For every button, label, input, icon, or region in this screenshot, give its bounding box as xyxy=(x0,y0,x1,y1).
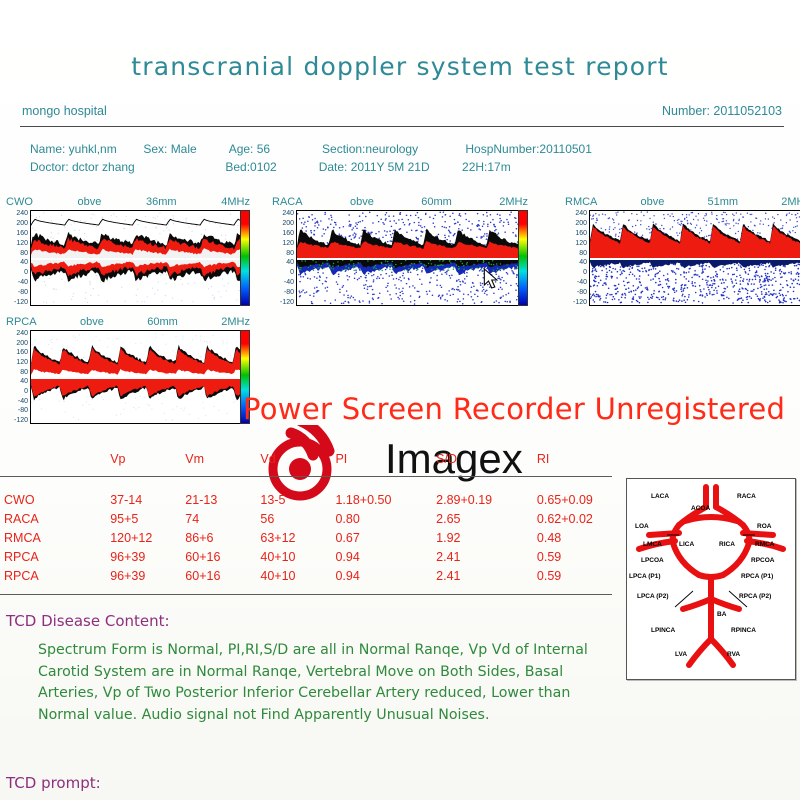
panel-axis: 240 200 160 120 80 40 0 -40 -80 -120 xyxy=(6,210,30,306)
axis-tick: 80 xyxy=(20,369,28,376)
cell-ri: 0.62+0.02 xyxy=(537,512,612,526)
column-header-ri: RI xyxy=(537,452,612,466)
cell-vd: 63+12 xyxy=(260,531,335,545)
label-loa: LOA xyxy=(635,523,649,530)
cell-ri: 0.59 xyxy=(537,550,612,564)
spectrum-panel-raca[interactable]: RACA obve 60mm 2MHz 240 200 160 120 80 4… xyxy=(272,196,528,306)
axis-tick: 0 xyxy=(24,388,28,395)
patient-name: Name: yuhkl,nm xyxy=(30,140,140,158)
label-rva: RVA xyxy=(727,651,740,658)
panel-axis: 240 200 160 120 80 40 0 -40 -80 -120 xyxy=(6,330,30,424)
panel-window: obve xyxy=(641,196,665,210)
axis-tick: 40 xyxy=(20,378,28,385)
cell-vm: 74 xyxy=(185,512,260,526)
hospital-row: mongo hospital Number: 2011052103 xyxy=(22,104,782,121)
axis-tick: -80 xyxy=(577,289,587,296)
hosp-number: HospNumber:20110501 xyxy=(465,140,592,158)
column-header-pi: PI xyxy=(335,452,436,466)
axis-tick: 120 xyxy=(282,240,294,247)
label-lpca-p2: LPCA (P2) xyxy=(637,593,669,600)
column-header-vm: Vm xyxy=(185,452,260,466)
spectrum-panel-cwo[interactable]: CWO obve 36mm 4MHz 240 200 160 120 80 40… xyxy=(6,196,250,306)
label-rpca-p1: RPCA (P1) xyxy=(741,573,773,580)
patient-age: Age: 56 xyxy=(229,140,319,158)
axis-tick: 240 xyxy=(575,210,587,217)
cell-pi: 0.94 xyxy=(335,569,436,583)
axis-tick: 200 xyxy=(282,220,294,227)
axis-tick: 120 xyxy=(575,240,587,247)
spectrum-panel-rmca[interactable]: RMCA obve 51mm 2MHz 240 200 160 120 80 4… xyxy=(565,196,800,306)
table-row: RACA 95+5 74 56 0.80 2.65 0.62+0.02 xyxy=(0,509,612,528)
disease-content-body: Spectrum Form is Normal, PI,RI,S/D are a… xyxy=(38,640,598,726)
panel-plot xyxy=(589,210,800,306)
baseline xyxy=(31,377,240,379)
table-row: CWO 37-14 21-13 13-5 1.18+0.50 2.89+0.19… xyxy=(0,490,612,509)
cell-vm: 86+6 xyxy=(185,531,260,545)
cell-ri: 0.59 xyxy=(537,569,612,583)
patient-info: Name: yuhkl,nm Sex: Male Age: 56 Section… xyxy=(30,140,592,176)
measurements-table: Vp Vm Vd PI S/D RI CWO 37-14 21-13 13-5 … xyxy=(0,452,612,585)
axis-tick: -80 xyxy=(18,289,28,296)
axis-tick: 80 xyxy=(20,250,28,257)
label-raca: RACA xyxy=(737,493,756,500)
axis-tick: -80 xyxy=(18,407,28,414)
panel-depth: 36mm xyxy=(146,196,177,210)
label-lmca: LMCA xyxy=(643,541,662,548)
disease-content-title: TCD Disease Content: xyxy=(6,612,170,630)
panel-plot xyxy=(30,330,241,424)
table-row: RMCA 120+12 86+6 63+12 0.67 1.92 0.48 xyxy=(0,528,612,547)
label-rmca: RMCA xyxy=(755,541,775,548)
axis-tick: 80 xyxy=(286,250,294,257)
axis-tick: 40 xyxy=(286,259,294,266)
label-lica: LICA xyxy=(679,541,694,548)
panel-plot xyxy=(296,210,519,306)
screen-recorder-watermark: Power Screen Recorder Unregistered xyxy=(243,392,785,426)
table-top-divider xyxy=(0,476,612,477)
table-row: RPCA 96+39 60+16 40+10 0.94 2.41 0.59 xyxy=(0,566,612,585)
header-divider xyxy=(20,126,784,127)
cell-vm: 60+16 xyxy=(185,550,260,564)
panel-frequency: 2MHz xyxy=(499,196,528,210)
axis-tick: 200 xyxy=(16,340,28,347)
axis-tick: 40 xyxy=(579,259,587,266)
axis-tick: 240 xyxy=(16,330,28,337)
cell-vessel: CWO xyxy=(0,493,110,507)
axis-tick: 240 xyxy=(282,210,294,217)
cell-sd: 1.92 xyxy=(436,531,537,545)
patient-sex: Sex: Male xyxy=(143,140,225,158)
axis-tick: 160 xyxy=(16,230,28,237)
axis-tick: 80 xyxy=(579,250,587,257)
cell-vessel: RACA xyxy=(0,512,110,526)
panel-axis: 240 200 160 120 80 40 0 -40 -80 -120 xyxy=(565,210,589,306)
label-acoa: ACOA xyxy=(691,505,710,512)
axis-tick: -120 xyxy=(14,299,28,306)
panel-plot xyxy=(30,210,241,306)
cell-vd: 40+10 xyxy=(260,569,335,583)
panel-frequency: 2MHz xyxy=(781,196,800,210)
table-bottom-divider xyxy=(0,594,612,595)
cell-pi: 1.18+0.50 xyxy=(335,493,436,507)
report-page: transcranial doppler system test report … xyxy=(0,0,800,800)
spectrum-panel-rpca[interactable]: RPCA obve 60mm 2MHz 240 200 160 120 80 4… xyxy=(6,316,250,424)
axis-tick: -80 xyxy=(284,289,294,296)
color-scale-bar xyxy=(240,210,250,306)
cell-vm: 21-13 xyxy=(185,493,260,507)
column-header-sd: S/D xyxy=(436,452,537,466)
exam-time: 22H:17m xyxy=(462,158,511,176)
panel-header: CWO obve 36mm 4MHz xyxy=(6,196,250,210)
panel-window: obve xyxy=(78,196,102,210)
mouse-cursor-icon xyxy=(484,269,497,288)
axis-tick: 0 xyxy=(24,269,28,276)
column-header-vp: Vp xyxy=(110,452,185,466)
cell-vp: 95+5 xyxy=(110,512,185,526)
cell-sd: 2.89+0.19 xyxy=(436,493,537,507)
label-lva: LVA xyxy=(675,651,687,658)
tcd-prompt-title: TCD prompt: xyxy=(6,774,101,792)
page-title: transcranial doppler system test report xyxy=(0,52,800,81)
axis-tick: 0 xyxy=(583,269,587,276)
axis-tick: -40 xyxy=(18,398,28,405)
panel-header: RMCA obve 51mm 2MHz xyxy=(565,196,800,210)
axis-tick: -40 xyxy=(284,279,294,286)
panel-header: RPCA obve 60mm 2MHz xyxy=(6,316,250,330)
table-row: RPCA 96+39 60+16 40+10 0.94 2.41 0.59 xyxy=(0,547,612,566)
cell-ri: 0.65+0.09 xyxy=(537,493,612,507)
label-ba: BA xyxy=(717,611,726,618)
axis-tick: 40 xyxy=(20,259,28,266)
cell-ri: 0.48 xyxy=(537,531,612,545)
label-rpcoa: RPCOA xyxy=(751,557,774,564)
department: Section:neurology xyxy=(322,140,462,158)
panel-window: obve xyxy=(80,316,104,330)
cell-vd: 40+10 xyxy=(260,550,335,564)
cell-vessel: RPCA xyxy=(0,569,110,583)
label-lpinca: LPINCA xyxy=(651,627,675,634)
bed-number: Bed:0102 xyxy=(225,158,315,176)
color-scale-bar xyxy=(518,210,528,306)
panel-window: obve xyxy=(350,196,374,210)
panel-depth: 60mm xyxy=(147,316,178,330)
cell-vp: 96+39 xyxy=(110,569,185,583)
panel-header: RACA obve 60mm 2MHz xyxy=(272,196,528,210)
panel-axis: 240 200 160 120 80 40 0 -40 -80 -120 xyxy=(272,210,296,306)
label-lpca-p1: LPCA (P1) xyxy=(629,573,661,580)
label-lpcoa: LPCOA xyxy=(641,557,664,564)
label-roa: ROA xyxy=(757,523,771,530)
cell-vd: 56 xyxy=(260,512,335,526)
cell-pi: 0.94 xyxy=(335,550,436,564)
panel-depth: 51mm xyxy=(708,196,739,210)
panel-frequency: 2MHz xyxy=(221,316,250,330)
exam-date: Date: 2011Y 5M 21D xyxy=(319,158,459,176)
axis-tick: -40 xyxy=(577,279,587,286)
axis-tick: -120 xyxy=(573,299,587,306)
panel-vessel: RPCA xyxy=(6,316,37,330)
axis-tick: 200 xyxy=(16,220,28,227)
cell-vp: 37-14 xyxy=(110,493,185,507)
doctor-name: Doctor: dctor zhang xyxy=(30,158,222,176)
baseline xyxy=(31,258,240,260)
panel-vessel: RACA xyxy=(272,196,303,210)
axis-tick: -120 xyxy=(14,417,28,424)
label-laca: LACA xyxy=(651,493,669,500)
table-header-row: Vp Vm Vd PI S/D RI xyxy=(0,452,612,476)
report-number: Number: 2011052103 xyxy=(662,104,782,118)
circle-of-willis-diagram: LACA ACOA RACA LOA ROA LMCA LICA RICA RM… xyxy=(626,478,796,680)
panel-vessel: RMCA xyxy=(565,196,597,210)
hospital-name: mongo hospital xyxy=(22,104,107,118)
cell-vm: 60+16 xyxy=(185,569,260,583)
cell-vp: 120+12 xyxy=(110,531,185,545)
cell-vd: 13-5 xyxy=(260,493,335,507)
cell-sd: 2.65 xyxy=(436,512,537,526)
axis-tick: 200 xyxy=(575,220,587,227)
axis-tick: -120 xyxy=(280,299,294,306)
axis-tick: 160 xyxy=(575,230,587,237)
axis-tick: 120 xyxy=(16,240,28,247)
cell-vessel: RPCA xyxy=(0,550,110,564)
cell-sd: 2.41 xyxy=(436,550,537,564)
axis-tick: -40 xyxy=(18,279,28,286)
cell-vp: 96+39 xyxy=(110,550,185,564)
panel-depth: 60mm xyxy=(421,196,452,210)
panel-vessel: CWO xyxy=(6,196,33,210)
cell-pi: 0.67 xyxy=(335,531,436,545)
axis-tick: 160 xyxy=(282,230,294,237)
column-header-vd: Vd xyxy=(260,452,335,466)
label-rpinca: RPINCA xyxy=(731,627,756,634)
axis-tick: 0 xyxy=(290,269,294,276)
cell-pi: 0.80 xyxy=(335,512,436,526)
axis-tick: 120 xyxy=(16,359,28,366)
label-rica: RICA xyxy=(719,541,735,548)
cell-vessel: RMCA xyxy=(0,531,110,545)
baseline xyxy=(590,258,800,260)
panel-frequency: 4MHz xyxy=(221,196,250,210)
axis-tick: 160 xyxy=(16,349,28,356)
label-rpca-p2: RPCA (P2) xyxy=(739,593,771,600)
axis-tick: 240 xyxy=(16,210,28,217)
cell-sd: 2.41 xyxy=(436,569,537,583)
